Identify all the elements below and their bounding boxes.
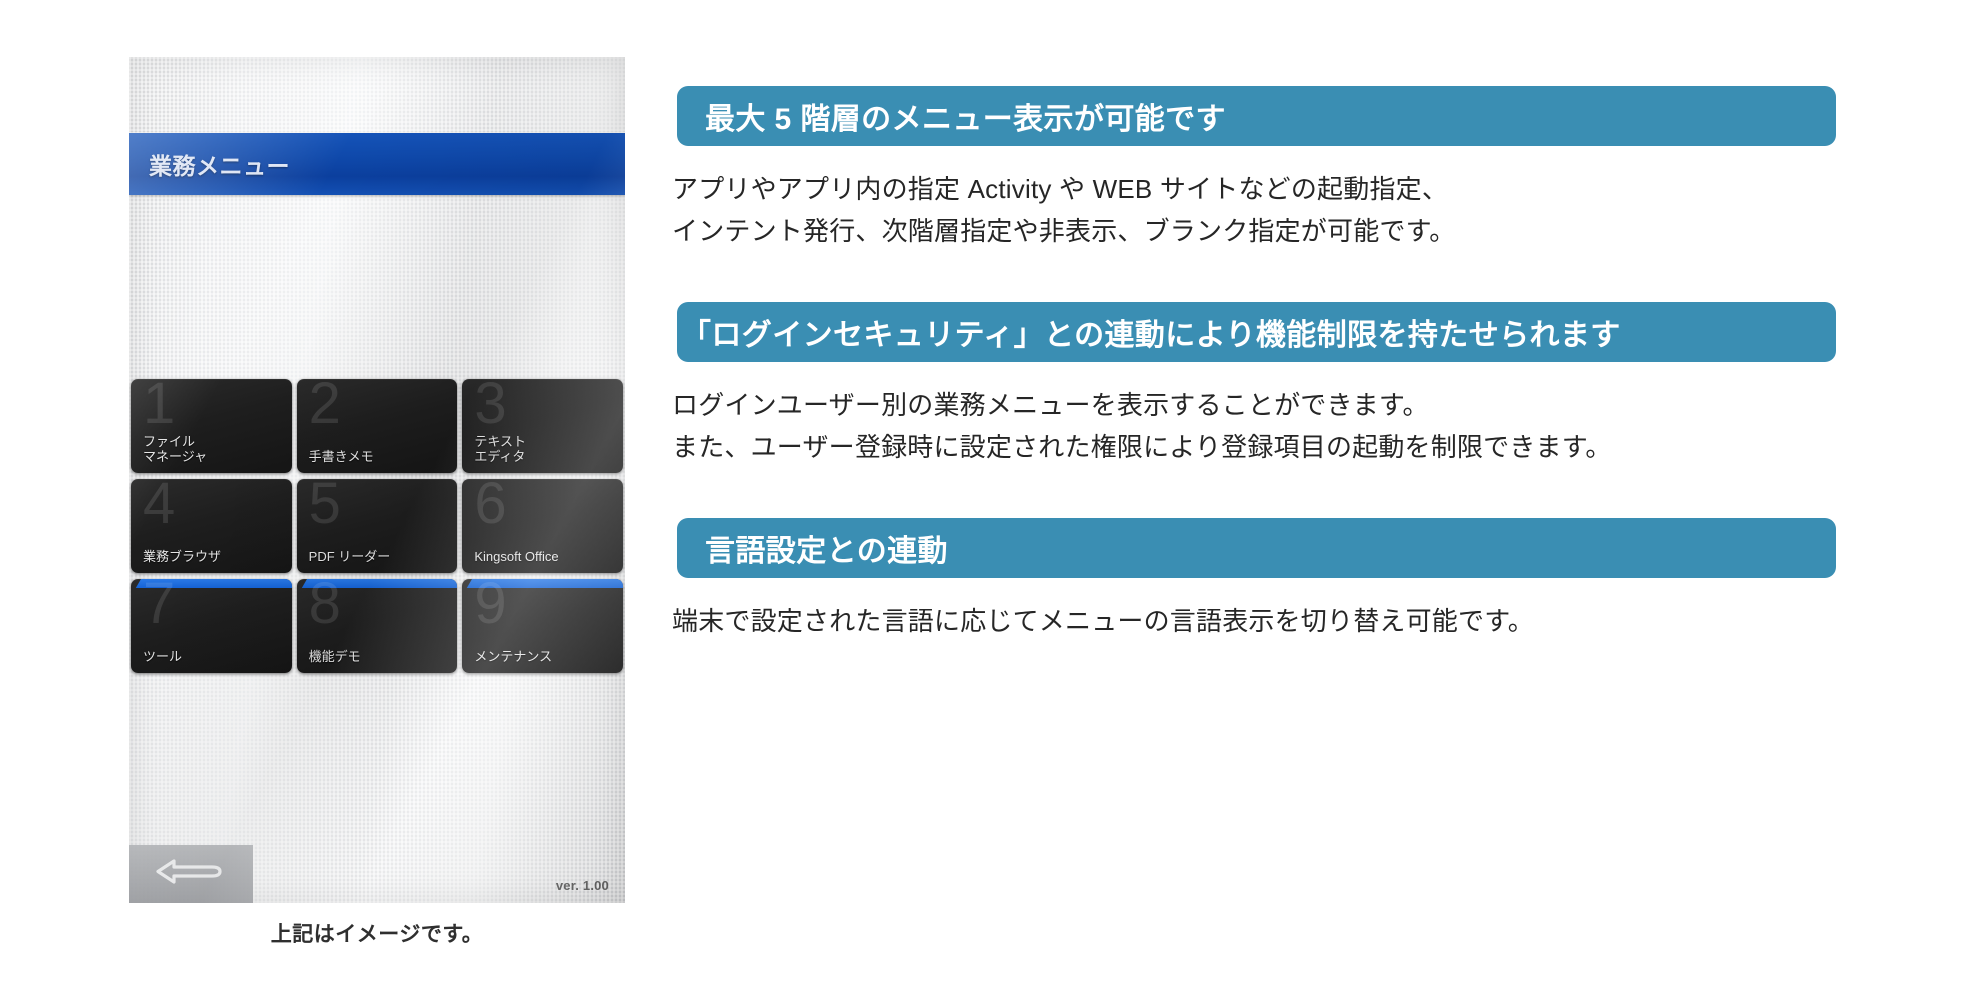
- tile-number: 2: [309, 379, 340, 433]
- tile-label: テキスト エディタ: [474, 434, 615, 464]
- feature-body-line: インテント発行、次階層指定や非表示、ブランク指定が可能です。: [672, 210, 1836, 252]
- back-arrow-icon: [148, 857, 234, 891]
- tile-label: ツール: [143, 649, 284, 664]
- tile-number: 1: [143, 379, 174, 433]
- tile-number: 3: [474, 379, 505, 433]
- back-button[interactable]: [129, 845, 253, 903]
- device-mockup-column: 業務メニュー 1 ファイル マネージャ 2 手書きメモ 3 テキスト エディタ: [129, 57, 625, 948]
- feature-list: 最大 5 階層のメニュー表示が可能です アプリやアプリ内の指定 Activity…: [672, 86, 1836, 642]
- feature-body-2: ログインユーザー別の業務メニューを表示することができます。 また、ユーザー登録時…: [672, 384, 1836, 468]
- tile-number: 9: [474, 579, 505, 633]
- tile-label: 機能デモ: [309, 649, 450, 664]
- device-screen: 業務メニュー 1 ファイル マネージャ 2 手書きメモ 3 テキスト エディタ: [129, 57, 625, 903]
- menu-tile-3[interactable]: 3 テキスト エディタ: [462, 379, 623, 473]
- tile-label: ファイル マネージャ: [143, 434, 284, 464]
- feature-heading-text: 「ログインセキュリティ」との連動により機能制限を持たせられます: [681, 310, 1621, 354]
- feature-heading-bar-3: 言語設定との連動: [677, 518, 1836, 578]
- feature-body-1: アプリやアプリ内の指定 Activity や WEB サイトなどの起動指定、 イ…: [672, 168, 1836, 252]
- feature-heading-text: 言語設定との連動: [705, 526, 948, 570]
- tile-label: PDF リーダー: [309, 549, 450, 564]
- tile-number: 6: [474, 479, 505, 533]
- menu-tile-9[interactable]: 9 メンテナンス: [462, 579, 623, 673]
- feature-heading-bar-1: 最大 5 階層のメニュー表示が可能です: [677, 86, 1836, 146]
- tile-label: 手書きメモ: [309, 449, 450, 464]
- tile-label: メンテナンス: [474, 649, 615, 664]
- tile-label: Kingsoft Office: [474, 549, 615, 564]
- feature-body-line: 端末で設定された言語に応じてメニューの言語表示を切り替え可能です。: [672, 600, 1836, 642]
- menu-tile-6[interactable]: 6 Kingsoft Office: [462, 479, 623, 573]
- page-card: 業務メニュー 1 ファイル マネージャ 2 手書きメモ 3 テキスト エディタ: [0, 0, 1964, 1001]
- feature-body-line: ログインユーザー別の業務メニューを表示することができます。: [672, 384, 1836, 426]
- tile-number: 5: [309, 479, 340, 533]
- feature-body-3: 端末で設定された言語に応じてメニューの言語表示を切り替え可能です。: [672, 600, 1836, 642]
- tile-number: 7: [143, 579, 174, 633]
- feature-body-line: また、ユーザー登録時に設定された権限により登録項目の起動を制限できます。: [672, 426, 1836, 468]
- tile-label: 業務ブラウザ: [143, 549, 284, 564]
- device-version-label: ver. 1.00: [556, 878, 609, 893]
- menu-tile-1[interactable]: 1 ファイル マネージャ: [131, 379, 292, 473]
- feature-block-1: 最大 5 階層のメニュー表示が可能です アプリやアプリ内の指定 Activity…: [672, 86, 1836, 252]
- feature-heading-bar-2: 「ログインセキュリティ」との連動により機能制限を持たせられます: [677, 302, 1836, 362]
- feature-block-3: 言語設定との連動 端末で設定された言語に応じてメニューの言語表示を切り替え可能で…: [672, 518, 1836, 642]
- tile-number: 8: [309, 579, 340, 633]
- menu-tile-2[interactable]: 2 手書きメモ: [297, 379, 458, 473]
- menu-tile-7[interactable]: 7 ツール: [131, 579, 292, 673]
- device-caption: 上記はイメージです。: [129, 918, 625, 948]
- menu-tile-5[interactable]: 5 PDF リーダー: [297, 479, 458, 573]
- menu-tile-4[interactable]: 4 業務ブラウザ: [131, 479, 292, 573]
- menu-tile-grid: 1 ファイル マネージャ 2 手書きメモ 3 テキスト エディタ 4 業務ブラウ: [129, 379, 625, 673]
- device-title-label: 業務メニュー: [149, 147, 290, 181]
- feature-heading-text: 最大 5 階層のメニュー表示が可能です: [705, 94, 1226, 138]
- feature-body-line: アプリやアプリ内の指定 Activity や WEB サイトなどの起動指定、: [672, 168, 1836, 210]
- device-bottom-bar: ver. 1.00: [129, 845, 625, 903]
- menu-tile-8[interactable]: 8 機能デモ: [297, 579, 458, 673]
- feature-block-2: 「ログインセキュリティ」との連動により機能制限を持たせられます ログインユーザー…: [672, 302, 1836, 468]
- tile-number: 4: [143, 479, 174, 533]
- device-titlebar: 業務メニュー: [129, 133, 625, 195]
